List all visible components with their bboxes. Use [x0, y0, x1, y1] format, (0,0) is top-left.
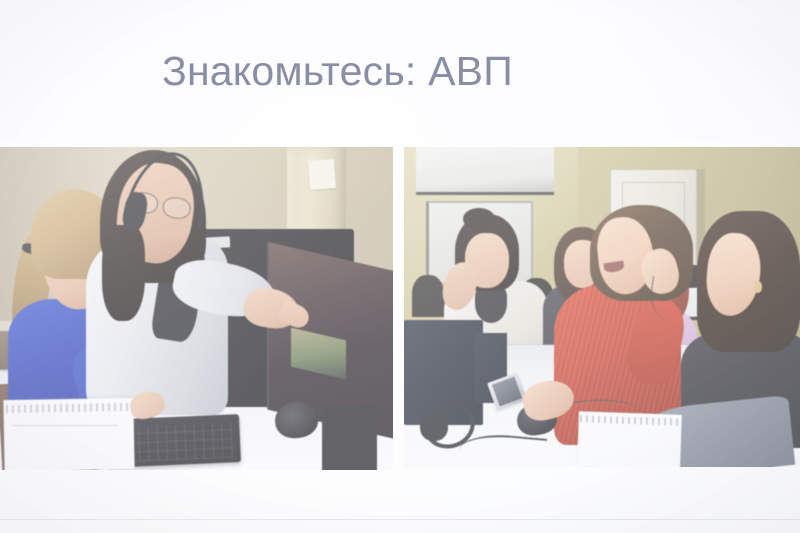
wall-paper-note — [308, 159, 335, 190]
screen-seam-line — [0, 519, 800, 520]
photo-right — [404, 147, 800, 467]
photo-left-scene — [0, 147, 393, 470]
photo-left — [0, 147, 393, 470]
person-lab-coat-hair-side — [102, 225, 145, 322]
monitor-stand — [322, 405, 377, 470]
presentation-slide: Знакомьтесь: АВП — [0, 0, 800, 533]
person-white-blouse-bun — [463, 208, 495, 230]
photo-right-scene — [404, 147, 800, 467]
slide-title-area: Знакомьтесь: АВП — [0, 0, 800, 142]
headset-earcup — [420, 413, 448, 442]
background-person-1 — [412, 275, 444, 317]
page-title: Знакомьтесь: АВП — [162, 51, 513, 92]
projection-screen — [416, 147, 555, 195]
notebook-line — [12, 425, 118, 426]
